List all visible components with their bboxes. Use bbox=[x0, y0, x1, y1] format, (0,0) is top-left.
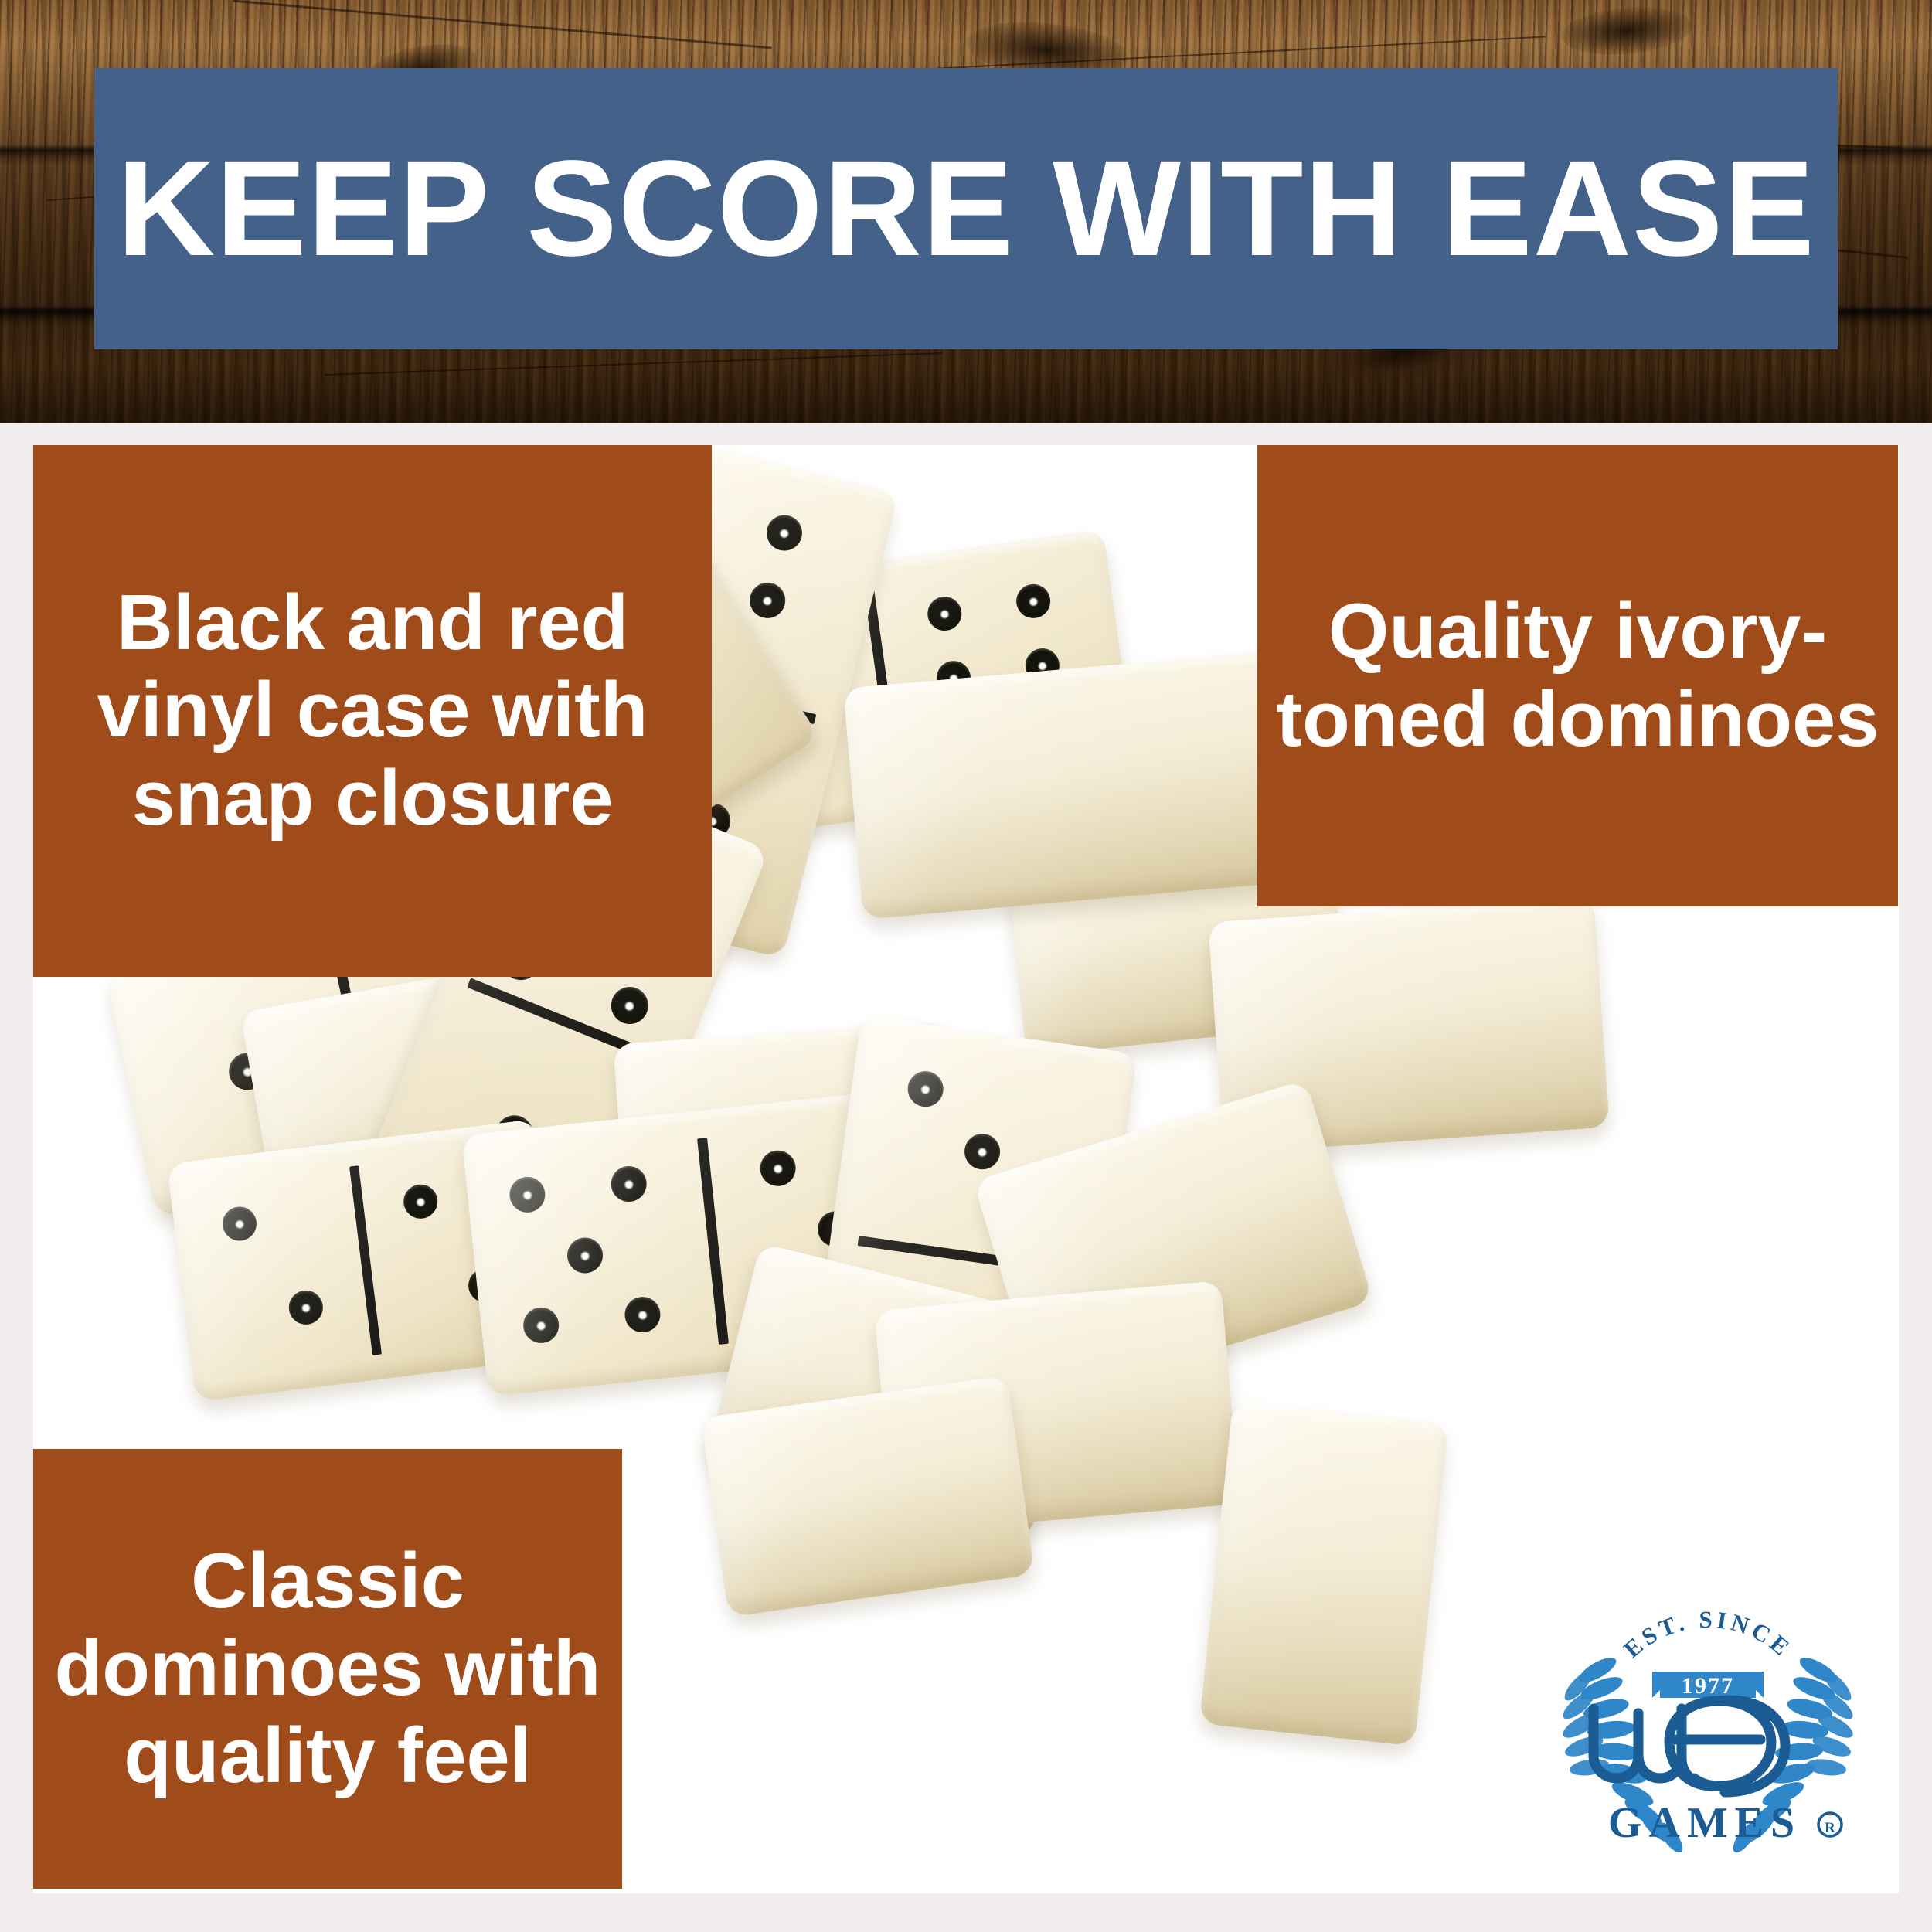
feature-callout-ivory-dominoes: Quality ivory-toned dominoes bbox=[1257, 445, 1898, 906]
product-infographic: KEEP SCORE WITH EASE bbox=[0, 0, 1932, 1932]
we-games-logo-icon: EST. SINCE 1977 GAMES bbox=[1553, 1604, 1862, 1870]
logo-year: 1977 bbox=[1682, 1673, 1734, 1699]
page-title: KEEP SCORE WITH EASE bbox=[117, 141, 1815, 277]
feature-callout-classic-dominoes: Classic dominoes with quality feel bbox=[33, 1449, 622, 1889]
logo-established-label: EST. SINCE bbox=[1618, 1606, 1798, 1663]
logo-wordmark: GAMES bbox=[1608, 1799, 1801, 1847]
brand-logo: EST. SINCE 1977 GAMES bbox=[1553, 1604, 1862, 1870]
logo-year-ribbon: 1977 bbox=[1652, 1672, 1764, 1699]
feature-callout-vinyl-case: Black and red vinyl case with snap closu… bbox=[33, 445, 712, 977]
registered-trademark-icon: R bbox=[1818, 1813, 1842, 1836]
domino-tile bbox=[1199, 1401, 1448, 1747]
feature-text: Black and red vinyl case with snap closu… bbox=[47, 580, 698, 842]
feature-text: Classic dominoes with quality feel bbox=[47, 1538, 608, 1800]
headline-banner: KEEP SCORE WITH EASE bbox=[94, 68, 1838, 349]
feature-text: Quality ivory-toned dominoes bbox=[1271, 588, 1884, 763]
domino-tile bbox=[701, 1375, 1035, 1617]
domino-tile bbox=[843, 651, 1294, 920]
svg-text:R: R bbox=[1825, 1820, 1835, 1836]
